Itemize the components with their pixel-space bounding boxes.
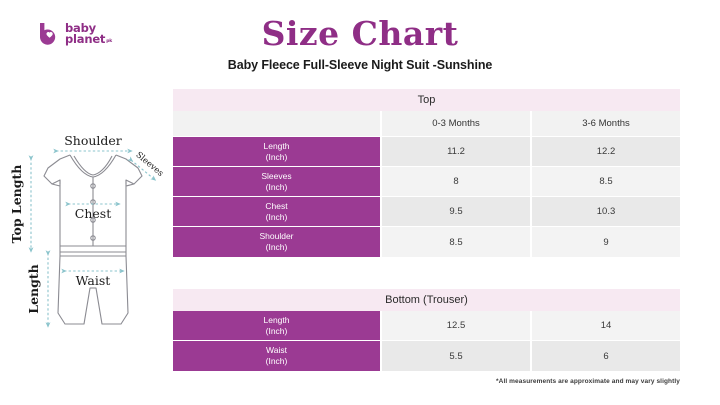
label-chest: Chest: [75, 206, 111, 221]
table-row: Waist (Inch) 5.5 6: [173, 341, 680, 371]
page-title: Size Chart: [0, 14, 720, 53]
column-header-3-6-months: 3-6 Months: [530, 111, 680, 137]
row-label-length: Length (Inch): [173, 137, 380, 167]
page-subtitle: Baby Fleece Full-Sleeve Night Suit -Suns…: [0, 58, 720, 72]
label-shoulder: Shoulder: [64, 133, 122, 148]
row-label-unit: (Inch): [266, 212, 288, 223]
table-section-title-bottom: Bottom (Trouser): [173, 289, 680, 311]
row-label-text: Waist: [266, 345, 287, 356]
table-row: Sleeves (Inch) 8 8.5: [173, 167, 680, 197]
row-label-unit: (Inch): [266, 356, 288, 367]
table-row: Length (Inch) 11.2 12.2: [173, 137, 680, 167]
table-row: Shoulder (Inch) 8.5 9: [173, 227, 680, 257]
label-top-length: Top Length: [9, 165, 24, 244]
row-label-text: Length: [264, 141, 290, 152]
garment-measurement-diagram: Shoulder Sleeves Chest Waist Top Length …: [8, 128, 176, 380]
row-label-waist: Waist (Inch): [173, 341, 380, 371]
row-label-sleeves: Sleeves (Inch): [173, 167, 380, 197]
label-waist: Waist: [76, 273, 111, 288]
table-row: Chest (Inch) 9.5 10.3: [173, 197, 680, 227]
row-label-chest: Chest (Inch): [173, 197, 380, 227]
cell-value: 11.2: [380, 137, 530, 167]
table-row: Length (Inch) 12.5 14: [173, 311, 680, 341]
row-label-unit: (Inch): [266, 326, 288, 337]
row-label-text: Length: [264, 315, 290, 326]
size-table-top: Top 0-3 Months 3-6 Months Length (Inch) …: [173, 89, 680, 257]
cell-value: 8.5: [380, 227, 530, 257]
cell-value: 6: [530, 341, 680, 371]
row-label-unit: (Inch): [266, 182, 288, 193]
footnote-disclaimer: *All measurements are approximate and ma…: [496, 378, 680, 385]
cell-value: 12.5: [380, 311, 530, 341]
column-header-0-3-months: 0-3 Months: [380, 111, 530, 137]
cell-value: 8: [380, 167, 530, 197]
row-label-length: Length (Inch): [173, 311, 380, 341]
row-label-unit: (Inch): [266, 152, 288, 163]
row-label-unit: (Inch): [266, 242, 288, 253]
cell-value: 10.3: [530, 197, 680, 227]
cell-value: 9: [530, 227, 680, 257]
label-length: Length: [26, 264, 41, 313]
row-label-text: Sleeves: [261, 171, 291, 182]
column-header-blank: [173, 111, 380, 137]
cell-value: 8.5: [530, 167, 680, 197]
table-column-header-row: 0-3 Months 3-6 Months: [173, 111, 680, 137]
size-table-bottom: Bottom (Trouser) Length (Inch) 12.5 14 W…: [173, 289, 680, 371]
cell-value: 5.5: [380, 341, 530, 371]
cell-value: 9.5: [380, 197, 530, 227]
row-label-text: Shoulder: [259, 231, 293, 242]
table-section-title-top: Top: [173, 89, 680, 111]
cell-value: 12.2: [530, 137, 680, 167]
row-label-shoulder: Shoulder (Inch): [173, 227, 380, 257]
row-label-text: Chest: [265, 201, 287, 212]
cell-value: 14: [530, 311, 680, 341]
